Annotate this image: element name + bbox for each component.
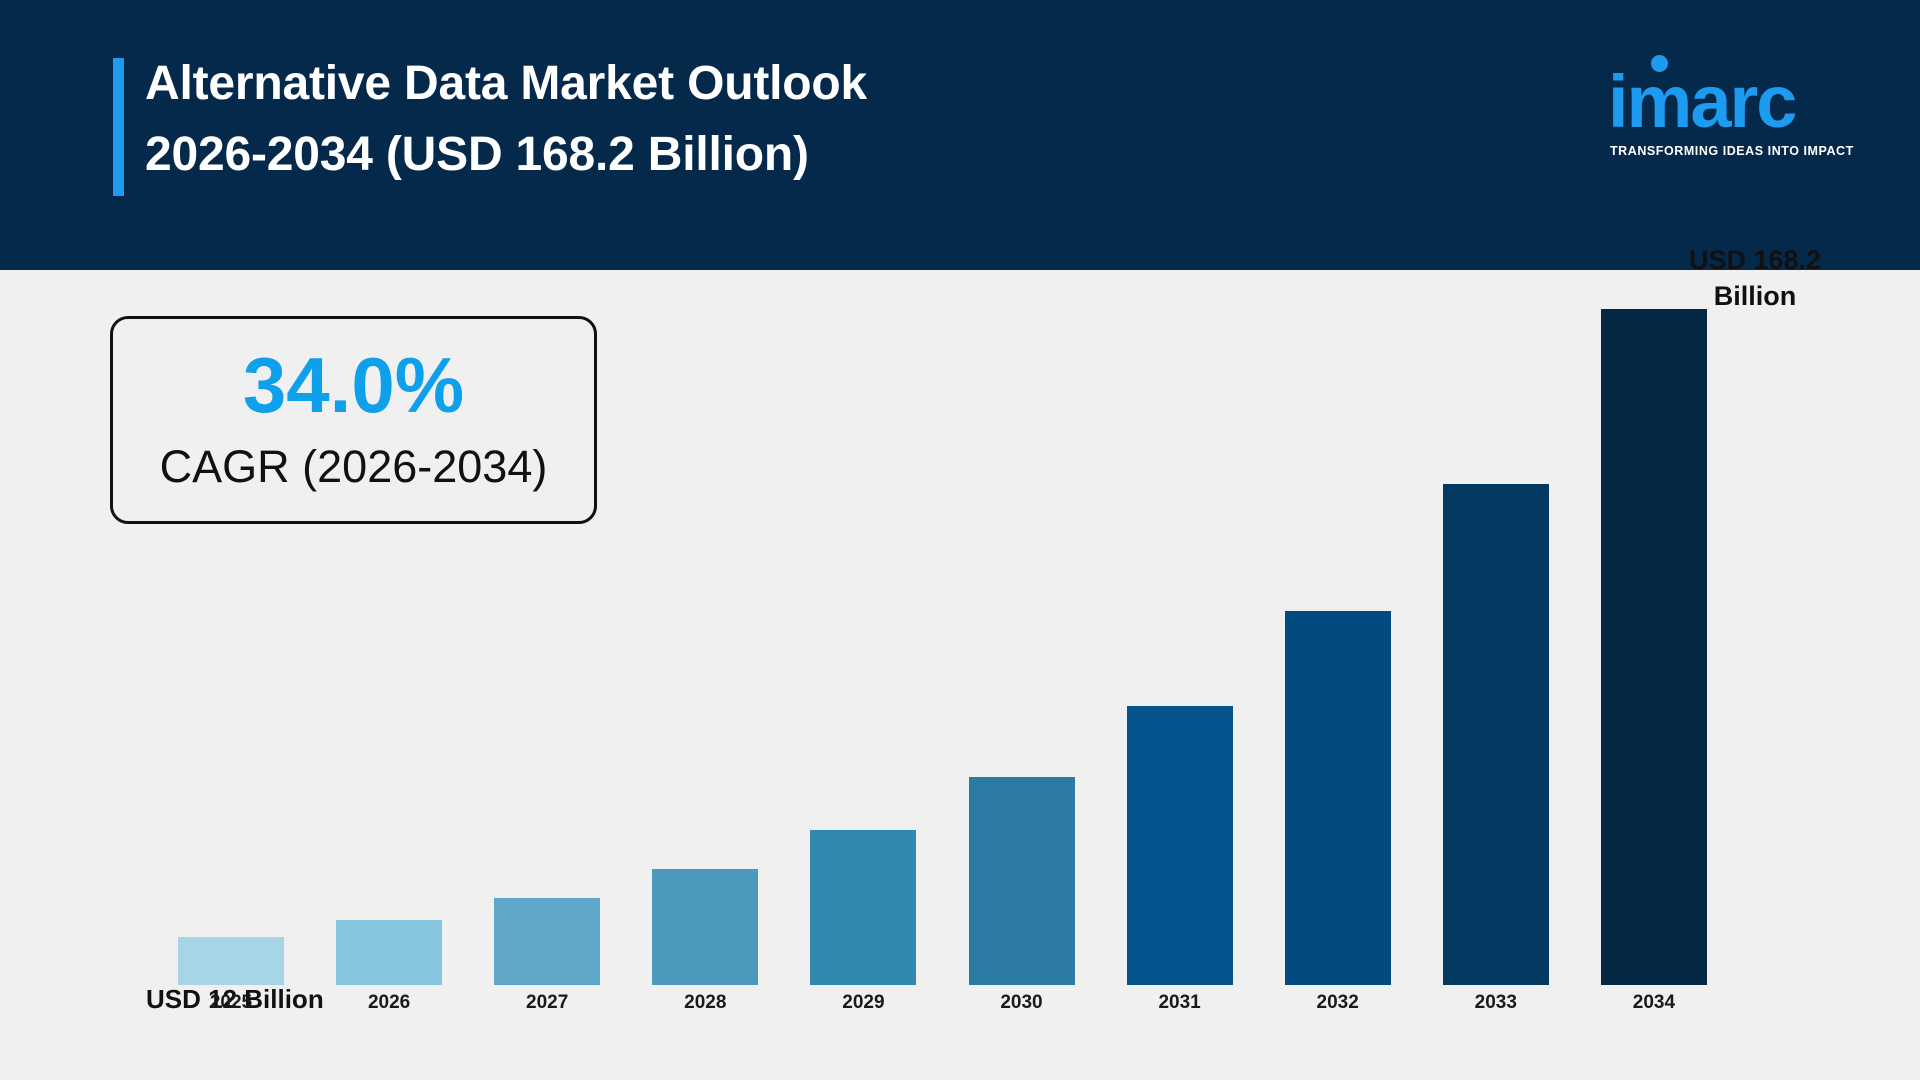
bar-2028 <box>652 869 758 985</box>
x-tick-label: 2030 <box>966 992 1078 1014</box>
bar-2032 <box>1285 611 1391 985</box>
title-line-2: 2026-2034 (USD 168.2 Billion) <box>145 119 1445 190</box>
logo-tagline: TRANSFORMING IDEAS INTO IMPACT <box>1610 144 1860 158</box>
header-banner: Alternative Data Market Outlook 2026-203… <box>0 0 1920 270</box>
bar-2034 <box>1601 309 1707 985</box>
x-tick-label: 2034 <box>1598 992 1710 1014</box>
bar-group <box>1440 270 1598 985</box>
bar-group <box>175 270 333 985</box>
bar-2031 <box>1127 706 1233 985</box>
x-tick-label: 2025 <box>175 992 287 1014</box>
bar-group <box>1124 270 1282 985</box>
x-tick-2025: 2025 <box>175 992 333 1014</box>
bar-group <box>491 270 649 985</box>
x-tick-label: 2028 <box>649 992 761 1014</box>
bar-2027 <box>494 898 600 985</box>
title-accent-bar <box>113 58 124 196</box>
bar-2030 <box>969 777 1075 985</box>
x-tick-label: 2029 <box>807 992 919 1014</box>
x-tick-label: 2031 <box>1124 992 1236 1014</box>
x-tick-2027: 2027 <box>491 992 649 1014</box>
plot-area: 2025202620272028202920302031203220332034 <box>175 270 1756 985</box>
x-tick-2026: 2026 <box>333 992 491 1014</box>
bar-chart: USD 12 Billion USD 168.2 Billion 2025202… <box>0 270 1920 1080</box>
bar-group <box>966 270 1124 985</box>
title-line-1: Alternative Data Market Outlook <box>145 48 1445 119</box>
bar-group <box>649 270 807 985</box>
bar-group <box>333 270 491 985</box>
x-tick-2031: 2031 <box>1124 992 1282 1014</box>
x-tick-label: 2033 <box>1440 992 1552 1014</box>
bar-2026 <box>336 920 442 985</box>
bar-group <box>807 270 965 985</box>
page-title: Alternative Data Market Outlook 2026-203… <box>145 48 1445 190</box>
x-tick-label: 2027 <box>491 992 603 1014</box>
x-tick-2029: 2029 <box>807 992 965 1014</box>
x-tick-2028: 2028 <box>649 992 807 1014</box>
x-tick-label: 2026 <box>333 992 445 1014</box>
bar-2029 <box>810 830 916 985</box>
bar-group <box>1282 270 1440 985</box>
x-tick-2032: 2032 <box>1282 992 1440 1014</box>
x-tick-2033: 2033 <box>1440 992 1598 1014</box>
logo-wordmark: imarc <box>1608 62 1860 142</box>
imarc-logo: imarc TRANSFORMING IDEAS INTO IMPACT <box>1608 52 1860 172</box>
bar-group <box>1598 270 1756 985</box>
bar-2025 <box>178 937 284 985</box>
x-tick-2034: 2034 <box>1598 992 1756 1014</box>
x-tick-2030: 2030 <box>966 992 1124 1014</box>
bar-2033 <box>1443 484 1549 985</box>
x-tick-label: 2032 <box>1282 992 1394 1014</box>
